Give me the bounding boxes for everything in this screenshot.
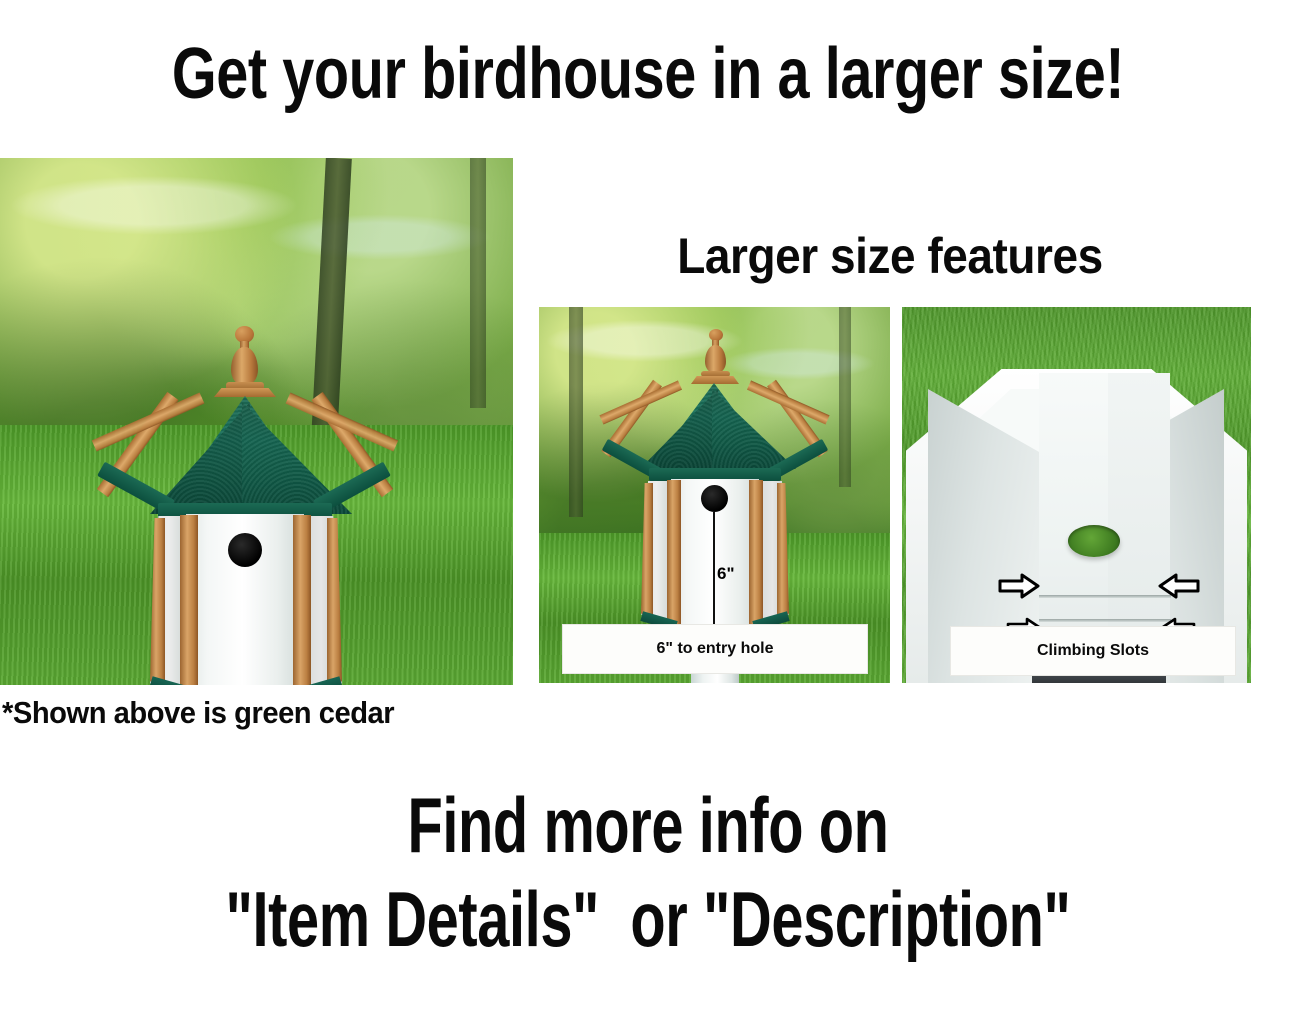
- entry-hole: [228, 533, 262, 567]
- corner-post-right-outer: [327, 518, 342, 685]
- corner-post-left-inner: [667, 480, 681, 628]
- page-title: Get your birdhouse in a larger size!: [130, 36, 1167, 112]
- finial-urn: [231, 347, 258, 385]
- photo-measurement: 6" 6" to entry hole: [539, 307, 890, 683]
- caption-plate-interior: Climbing Slots: [950, 626, 1236, 676]
- caption-interior-label: Climbing Slots: [1037, 643, 1149, 659]
- measurement-line: [713, 512, 715, 625]
- roof-ridge-far-left: [92, 393, 205, 452]
- section-heading-larger-size-features: Larger size features: [568, 228, 1212, 284]
- entry-hole-interior: [1068, 525, 1120, 557]
- roof-ridge-far-left: [599, 380, 682, 424]
- photo-main-birdhouse: [0, 158, 513, 685]
- caption-plate-measure: 6" to entry hole: [562, 624, 868, 674]
- entry-hole: [701, 485, 728, 512]
- roof-cap: [214, 388, 276, 397]
- roof-ridge-far-right: [747, 380, 830, 424]
- corner-post-right-inner: [749, 480, 763, 628]
- corner-post-left-outer: [150, 518, 165, 685]
- cta-line-1: Find more info on: [168, 782, 1127, 868]
- birdhouse-main: [0, 158, 513, 685]
- footnote-green-cedar: *Shown above is green cedar: [2, 694, 394, 732]
- measurement-label: 6": [717, 565, 735, 582]
- corner-post-left-outer: [641, 483, 653, 619]
- climbing-slot-2: [1039, 619, 1171, 622]
- cta-line-2: "Item Details" or "Description": [168, 876, 1127, 962]
- roof-cap: [691, 376, 739, 384]
- corner-post-right-inner: [293, 515, 311, 685]
- climbing-slot-1: [1039, 595, 1171, 598]
- corner-post-left-inner: [180, 515, 198, 685]
- corner-post-right-outer: [777, 483, 789, 619]
- caption-measure-label: 6" to entry hole: [657, 641, 774, 657]
- photo-interior: Climbing Slots: [902, 307, 1251, 683]
- finial-urn: [705, 345, 726, 373]
